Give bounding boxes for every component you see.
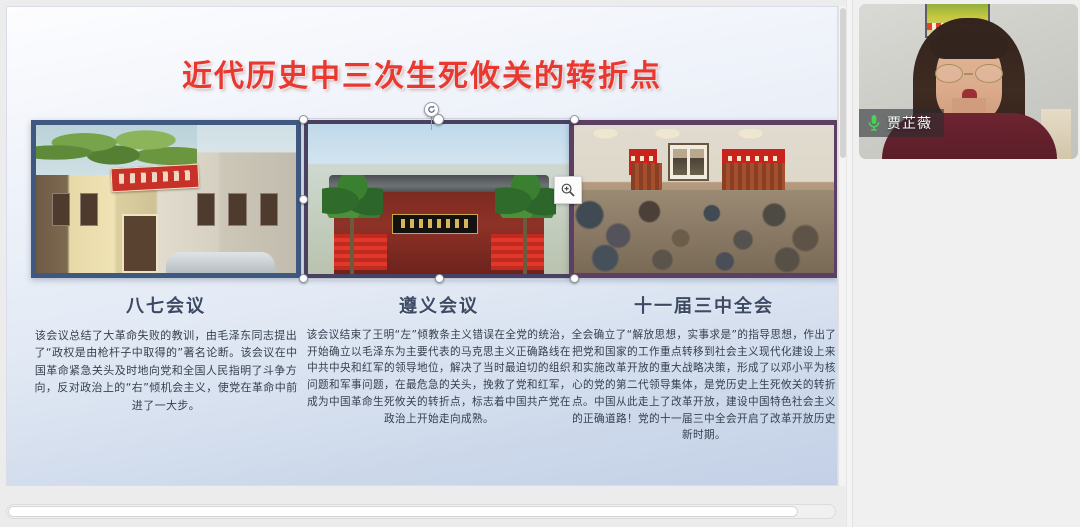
shared-screen-area[interactable]: 近代历史中三次生死攸关的转折点 <box>0 0 852 527</box>
photo-bqi-meeting-site <box>36 125 296 273</box>
photo1-red-sign <box>111 164 201 192</box>
photo-third-plenary-session <box>574 125 834 273</box>
column-1-heading: 八七会议 <box>31 292 301 318</box>
photo3-ceiling-lamp <box>590 129 621 139</box>
rotate-handle-stem <box>431 117 432 130</box>
participant-glasses <box>935 64 1003 83</box>
photo1-window <box>52 193 70 226</box>
participant-video-rail: 贾芷薇 <box>852 0 1080 527</box>
photo1-parked-car <box>166 252 275 273</box>
slide-column-1: 八七会议 该会议总结了大革命失败的教训，由毛泽东同志提出了“政权是由枪杆子中取得… <box>31 120 301 414</box>
participant-fringe <box>930 29 1008 59</box>
column-2-body: 该会议结束了王明“左”倾教条主义错误在全党的统治，开始确立以毛泽东为主要代表的马… <box>304 327 574 427</box>
resize-handle-bottom-center[interactable] <box>435 274 444 283</box>
column-3-heading: 十一届三中全会 <box>569 292 838 318</box>
photo2-palm-tree-right <box>494 166 557 274</box>
photo-frame-3[interactable] <box>569 120 838 278</box>
photo3-leader-portraits <box>668 143 710 181</box>
resize-handle-middle-left[interactable] <box>299 195 308 204</box>
presentation-slide[interactable]: 近代历史中三次生死攸关的转折点 <box>6 6 838 486</box>
photo1-window <box>197 193 215 226</box>
photo1-window <box>80 193 98 226</box>
slide-title: 近代历史中三次生死攸关的转折点 <box>7 51 837 95</box>
photo-zunyi-meeting-site <box>308 124 570 274</box>
resize-handle-bottom-left[interactable] <box>299 274 308 283</box>
meeting-screen-share-window: 近代历史中三次生死攸关的转折点 <box>0 0 1080 527</box>
slide-column-3: 十一届三中全会 全会确立了“解放思想，实事求是”的指导思想，作出了把党和国家的工… <box>569 120 838 444</box>
share-horizontal-scrollbar[interactable] <box>6 504 836 519</box>
microphone-icon[interactable] <box>867 114 881 132</box>
zoom-in-icon[interactable] <box>554 176 582 204</box>
photo1-window <box>260 193 278 226</box>
resize-handle-top-right[interactable] <box>570 115 579 124</box>
photo3-ceiling-lamp <box>652 129 683 139</box>
photo3-audience <box>574 190 834 273</box>
resize-handle-top-left[interactable] <box>299 115 308 124</box>
photo2-name-plaque <box>392 214 478 234</box>
resize-handle-bottom-right[interactable] <box>570 274 579 283</box>
column-1-body: 该会议总结了大革命失败的教训，由毛泽东同志提出了“政权是由枪杆子中取得的”著名论… <box>31 327 301 414</box>
resize-handle-top-center[interactable] <box>433 114 444 125</box>
photo3-ceiling-lamp <box>735 129 766 139</box>
photo1-sign-text <box>119 170 192 184</box>
photo1-entrance-door <box>122 214 158 273</box>
participant-name-badge: 贾芷薇 <box>859 109 944 137</box>
participant-rail-empty-slot <box>859 162 1078 522</box>
photo2-palm-tree-left <box>321 166 384 274</box>
participant-name-label: 贾芷薇 <box>887 113 932 133</box>
photo-frame-1[interactable] <box>31 120 301 278</box>
photo-frame-2-selected[interactable] <box>304 120 574 278</box>
slide-column-2: 遵义会议 该会议结束了王明“左”倾教条主义错误在全党的统治，开始确立以毛泽东为主… <box>304 120 574 427</box>
photo2-plaque-text <box>401 219 469 228</box>
column-2-heading: 遵义会议 <box>304 292 574 318</box>
photo1-window <box>228 193 246 226</box>
share-horizontal-scrollbar-thumb[interactable] <box>8 506 798 517</box>
participant-video-tile[interactable]: 贾芷薇 <box>859 4 1078 159</box>
share-vertical-scrollbar[interactable] <box>838 6 846 486</box>
column-3-body: 全会确立了“解放思想，实事求是”的指导思想，作出了把党和国家的工作重点转移到社会… <box>569 327 838 444</box>
